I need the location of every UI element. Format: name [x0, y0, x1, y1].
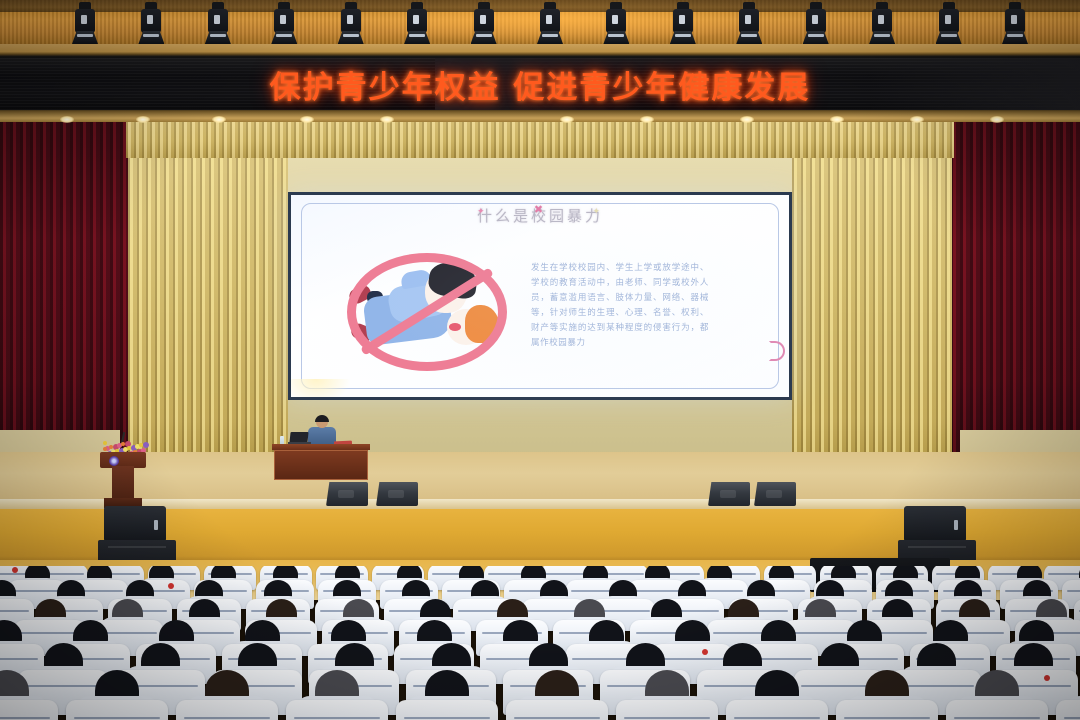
banner-shade-right	[870, 58, 1080, 110]
stage-par-light-icon	[338, 2, 364, 44]
slide-title-row: ✖ ✦ 什么是校园暴力 ✦	[291, 205, 789, 226]
podium-stem	[112, 466, 134, 500]
podium-emblem	[109, 456, 119, 466]
pa-top-cabinet	[104, 506, 166, 542]
speaker-podium	[100, 440, 146, 508]
stage-monitor-speaker	[754, 482, 796, 506]
stage-par-light-icon	[1002, 2, 1028, 44]
ceiling-downlight-icon	[380, 116, 394, 123]
banner-title: 保护青少年权益 促进青少年健康发展	[270, 62, 811, 107]
ceiling-downlight-icon	[560, 116, 574, 123]
slide-decor-arc	[769, 341, 785, 361]
ceiling-downlight-icon	[300, 116, 314, 123]
stage-monitor-speaker	[376, 482, 418, 506]
table-skirt	[274, 450, 368, 480]
student-audience	[0, 566, 1080, 720]
stage-par-light-icon	[670, 2, 696, 44]
ceiling-downlight-icon	[830, 116, 844, 123]
stage-par-light-icon	[803, 2, 829, 44]
sparkle-left-icon: ✦	[477, 207, 488, 217]
uniformed-officer	[308, 416, 336, 446]
ceiling-downlight-icon	[212, 116, 226, 123]
presentation-slide: ✖ ✦ 什么是校园暴力 ✦ 发生在学校校园	[291, 195, 789, 397]
stage-par-light-icon	[205, 2, 231, 44]
led-banner: 保护青少年权益 促进青少年健康发展	[0, 58, 1080, 110]
stage-monitor-speaker	[708, 482, 750, 506]
student-badge	[702, 649, 708, 655]
stage-par-light-icon	[736, 2, 762, 44]
cream-curtain-left	[128, 155, 288, 468]
auditorium-seat	[286, 700, 388, 720]
presenter-table	[272, 444, 370, 480]
auditorium-seat	[506, 700, 608, 720]
stage-par-light-icon	[936, 2, 962, 44]
ceiling	[0, 0, 1080, 46]
flower-icon	[103, 447, 107, 451]
stage-par-light-icon	[869, 2, 895, 44]
pa-top-cabinet	[904, 506, 966, 542]
auditorium-seat	[726, 700, 828, 720]
stage-par-light-icon	[404, 2, 430, 44]
auditorium-seat	[836, 700, 938, 720]
officer-hair	[315, 415, 329, 422]
slide-decor-glow	[291, 379, 351, 397]
stage-par-light-icon	[72, 2, 98, 44]
auditorium-seat	[616, 700, 718, 720]
projection-screen: ✖ ✦ 什么是校园暴力 ✦ 发生在学校校园	[288, 192, 792, 400]
ceiling-downlight-icon	[910, 116, 924, 123]
stage-par-light-icon	[537, 2, 563, 44]
auditorium-seat	[946, 700, 1048, 720]
auditorium-seat	[396, 700, 498, 720]
stage-par-light-icon	[471, 2, 497, 44]
stage-par-light-icon	[603, 2, 629, 44]
ceiling-downlight-icon	[990, 116, 1004, 123]
no-bullying-icon	[337, 247, 521, 379]
auditorium-photo: 保护青少年权益 促进青少年健康发展 ✖ ✦ 什么是校园暴力 ✦	[0, 0, 1080, 720]
auditorium-seat	[0, 700, 58, 720]
curtain-valance	[126, 120, 954, 158]
auditorium-seat	[1056, 700, 1080, 720]
ceiling-downlight-icon	[136, 116, 150, 123]
auditorium-seat	[176, 700, 278, 720]
stage-par-light-icon	[138, 2, 164, 44]
stage-par-light-icon	[271, 2, 297, 44]
auditorium-seat	[66, 700, 168, 720]
sparkle-right-icon: ✦	[592, 207, 603, 217]
stage-monitor-speaker	[326, 482, 368, 506]
ceiling-downlight-icon	[60, 116, 74, 123]
sparkle-icon: ✖	[534, 203, 546, 216]
flower-icon	[143, 442, 149, 448]
ceiling-downlight-icon	[640, 116, 654, 123]
flower-icon	[103, 441, 107, 445]
ceiling-downlight-icon	[740, 116, 754, 123]
slide-body-text: 发生在学校校园内、学生上学或放学途中、学校的教育活动中，由老师、同学或校外人员，…	[531, 261, 709, 351]
cream-curtain-right	[792, 155, 952, 468]
